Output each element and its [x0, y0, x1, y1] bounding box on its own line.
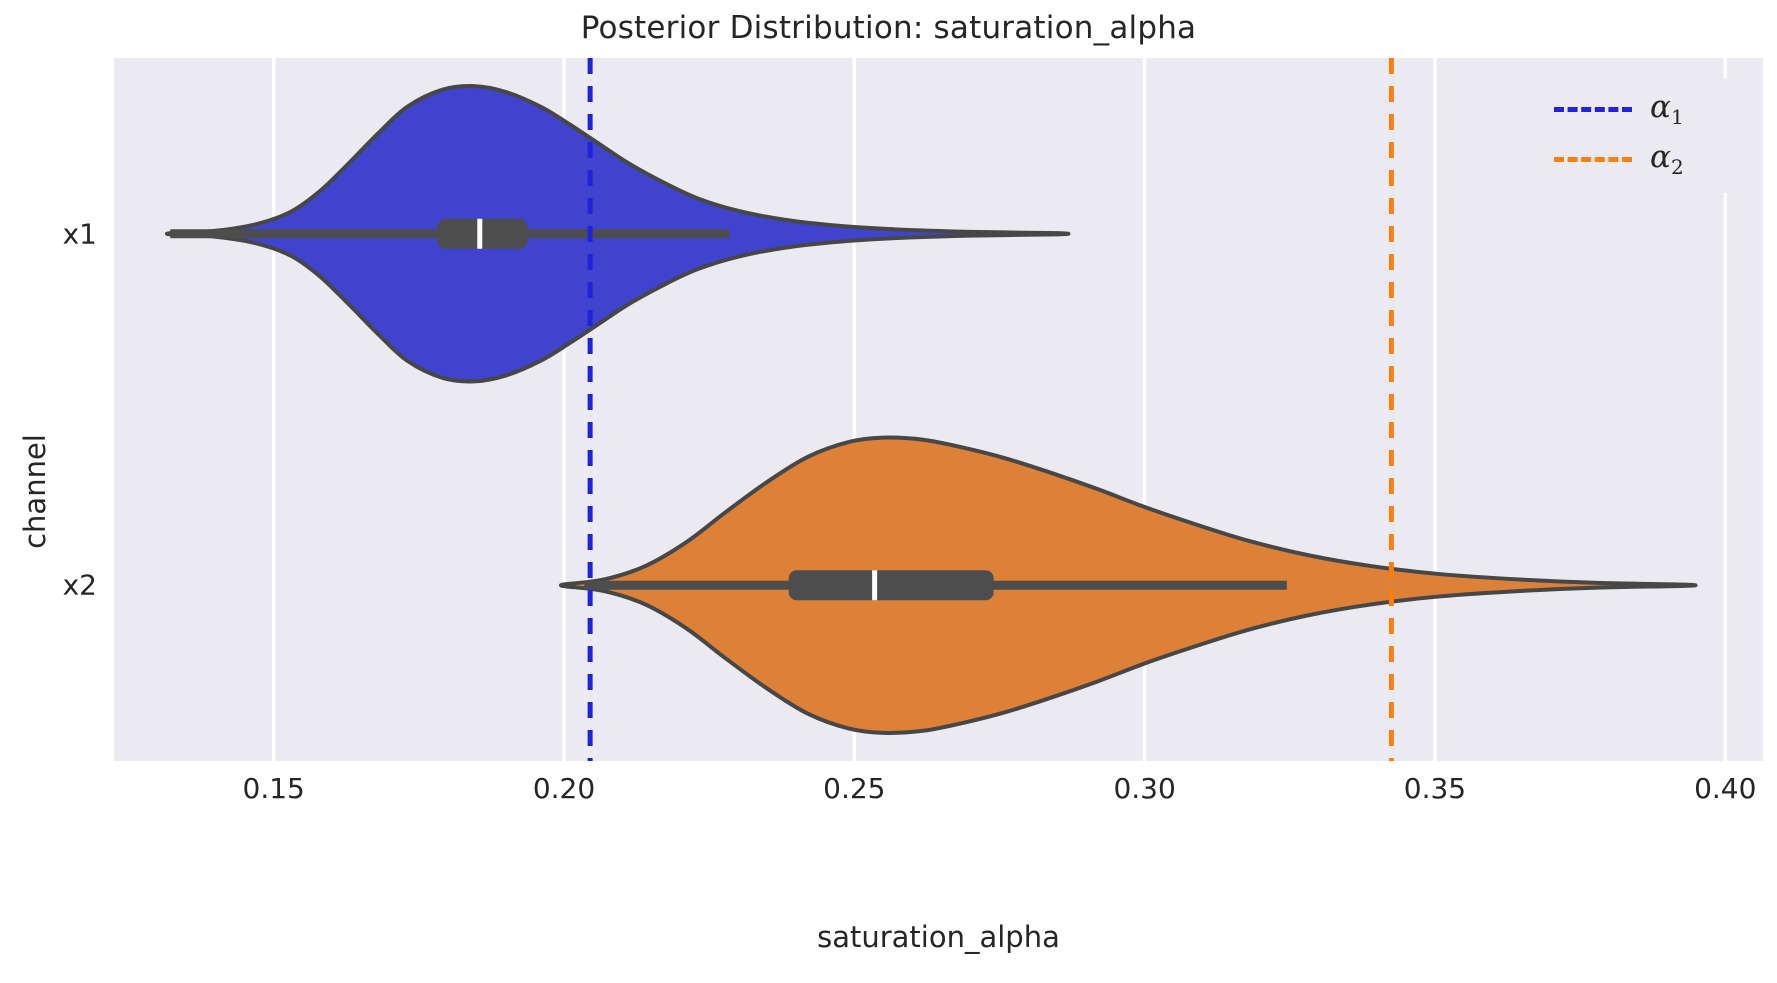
- legend-label-subscript: 1: [1671, 105, 1684, 129]
- iqr-box-x2: [789, 570, 994, 600]
- x-tick-label: 0.35: [1404, 772, 1466, 805]
- x-tick-label: 0.30: [1113, 772, 1175, 805]
- legend: α1α2: [1544, 78, 1749, 193]
- iqr-box-x1: [437, 219, 527, 249]
- median-marker-x1: [477, 219, 482, 249]
- legend-item-alpha2[interactable]: α2: [1554, 136, 1744, 182]
- x-tick-label: 0.20: [533, 772, 595, 805]
- x-axis-label: saturation_alpha: [114, 920, 1763, 954]
- median-marker-x2: [872, 570, 877, 600]
- plot-area: [114, 58, 1763, 761]
- y-tick-label-x1: x1: [63, 217, 97, 250]
- legend-label-alpha2: α2: [1650, 139, 1684, 179]
- violin-x1: [167, 86, 1068, 381]
- violin-x2: [561, 438, 1696, 733]
- x-tick-label: 0.40: [1694, 772, 1756, 805]
- legend-label-alpha1: α1: [1650, 89, 1684, 129]
- legend-swatch-alpha2: [1554, 157, 1632, 162]
- plot-svg: [114, 58, 1763, 761]
- violin-chart-figure: Posterior Distribution: saturation_alpha…: [0, 0, 1777, 983]
- legend-swatch-alpha1: [1554, 107, 1632, 112]
- legend-item-alpha1[interactable]: α1: [1554, 86, 1744, 132]
- x-tick-label: 0.15: [243, 772, 305, 805]
- y-tick-label-x2: x2: [63, 569, 97, 602]
- legend-label-subscript: 2: [1671, 155, 1684, 179]
- x-tick-label: 0.25: [823, 772, 885, 805]
- chart-title: Posterior Distribution: saturation_alpha: [0, 10, 1777, 46]
- y-axis-label: channel: [14, 0, 56, 983]
